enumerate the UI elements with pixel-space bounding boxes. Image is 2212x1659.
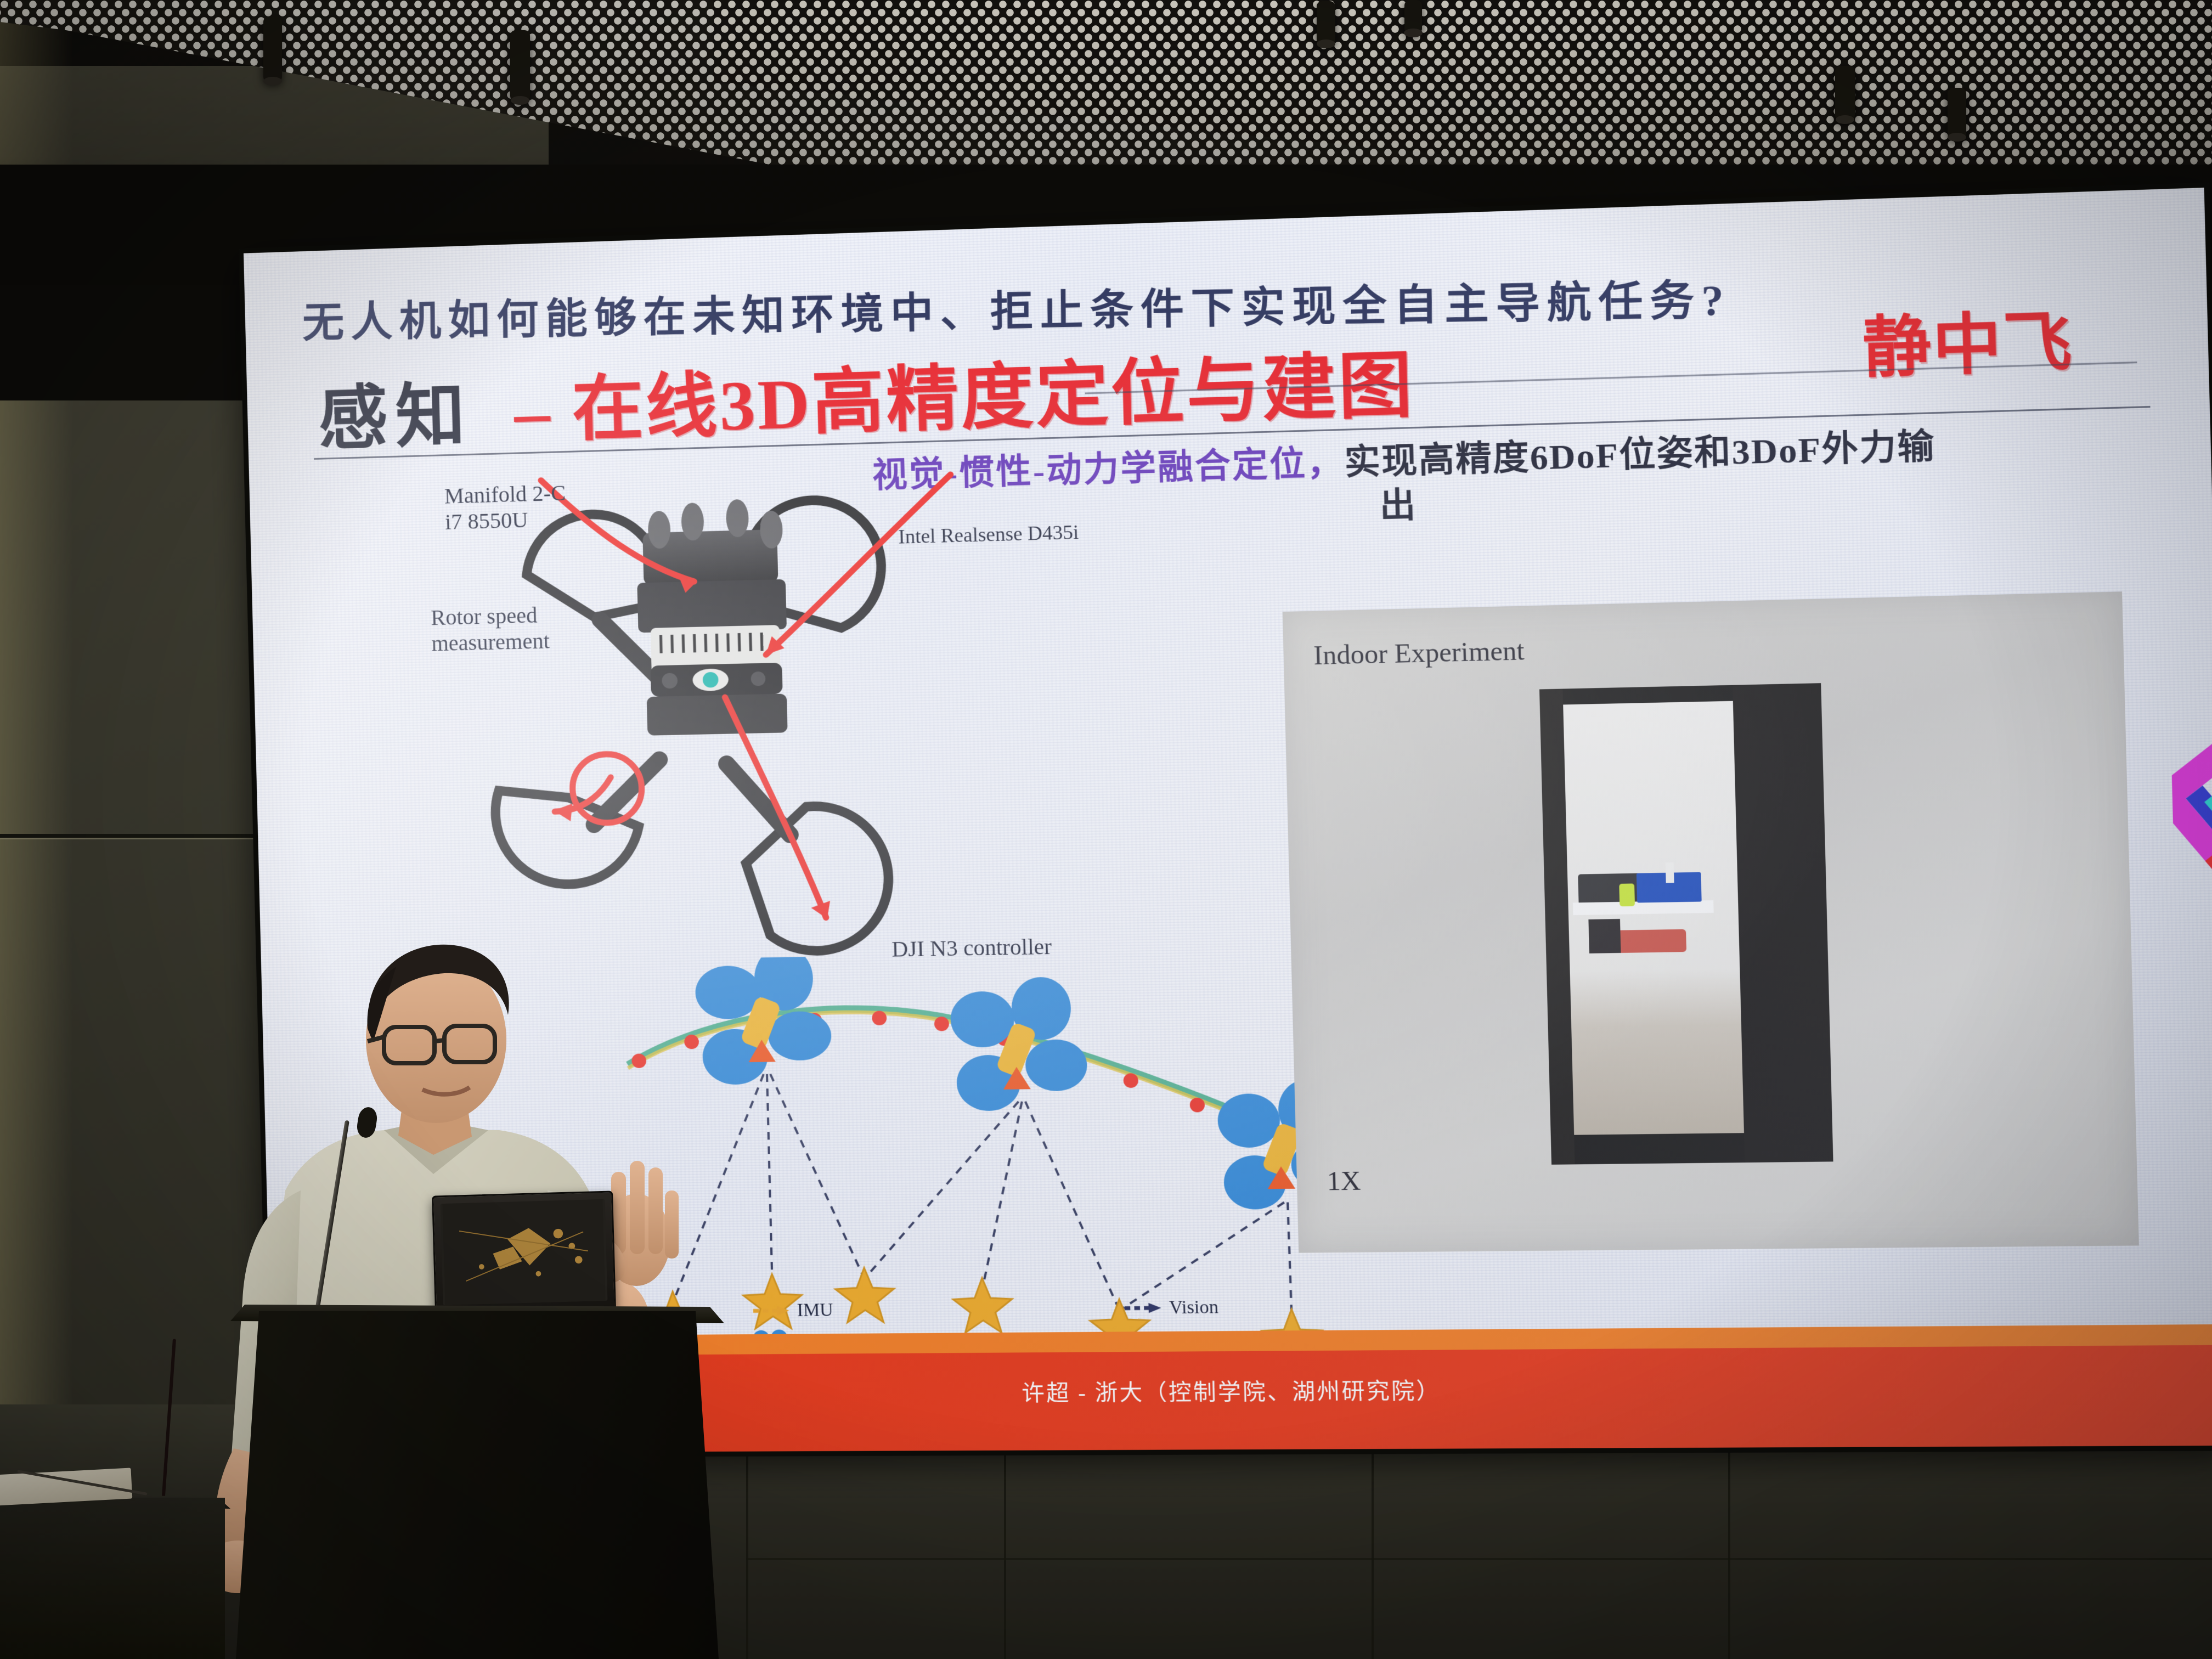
laptop-screen[interactable] <box>440 1199 607 1305</box>
experiment-video-frame <box>1539 683 1833 1165</box>
track-light-icon <box>1404 0 1422 34</box>
laptop-wallpaper <box>440 1199 607 1305</box>
legend-item-vision: Vision <box>1123 1296 1370 1318</box>
video-white-item <box>1666 862 1674 883</box>
label-manifold-line1: Manifold 2-C <box>444 480 566 508</box>
track-light-icon <box>510 30 530 101</box>
podium: 同济大学 1907 〕〕〕〕 TONGJI UNIVERSITY <box>236 1311 719 1659</box>
panel-divider-h <box>746 1558 2212 1560</box>
video-green-bottle <box>1619 883 1635 906</box>
track-light-icon <box>1835 66 1855 121</box>
legend-label: Vision <box>1169 1297 1219 1318</box>
track-light-icon <box>1317 1 1335 45</box>
playback-rate-label: 1X <box>1327 1166 1361 1197</box>
track-light-icon <box>1948 88 1966 138</box>
label-intel-realsense: Intel Realsense D435i <box>898 520 1079 549</box>
label-manifold-line2: i7 8550U <box>445 507 529 534</box>
side-table <box>0 1498 225 1659</box>
arrow-navy-dashed-icon <box>1123 1301 1161 1316</box>
track-light-icon <box>263 16 282 82</box>
experiment-title: Indoor Experiment <box>1313 635 1525 671</box>
video-chair-base <box>1588 919 1621 953</box>
video-room-interior <box>1563 701 1744 1135</box>
video-pillar <box>1733 683 1833 1163</box>
legend-label: IMU <box>797 1300 833 1321</box>
legend-item-imu: IMU <box>752 1298 1114 1321</box>
indoor-experiment-panel: Indoor Experiment 1X <box>1283 591 2139 1252</box>
label-rotor-line1: Rotor speed <box>431 602 538 630</box>
label-manifold: Manifold 2-C i7 8550U <box>444 479 566 535</box>
arrow-orange-dashed-icon <box>752 1304 789 1318</box>
label-rotor-line2: measurement <box>431 628 550 656</box>
presenter-laptop <box>432 1190 616 1313</box>
label-rotor-speed: Rotor speed measurement <box>431 602 550 657</box>
